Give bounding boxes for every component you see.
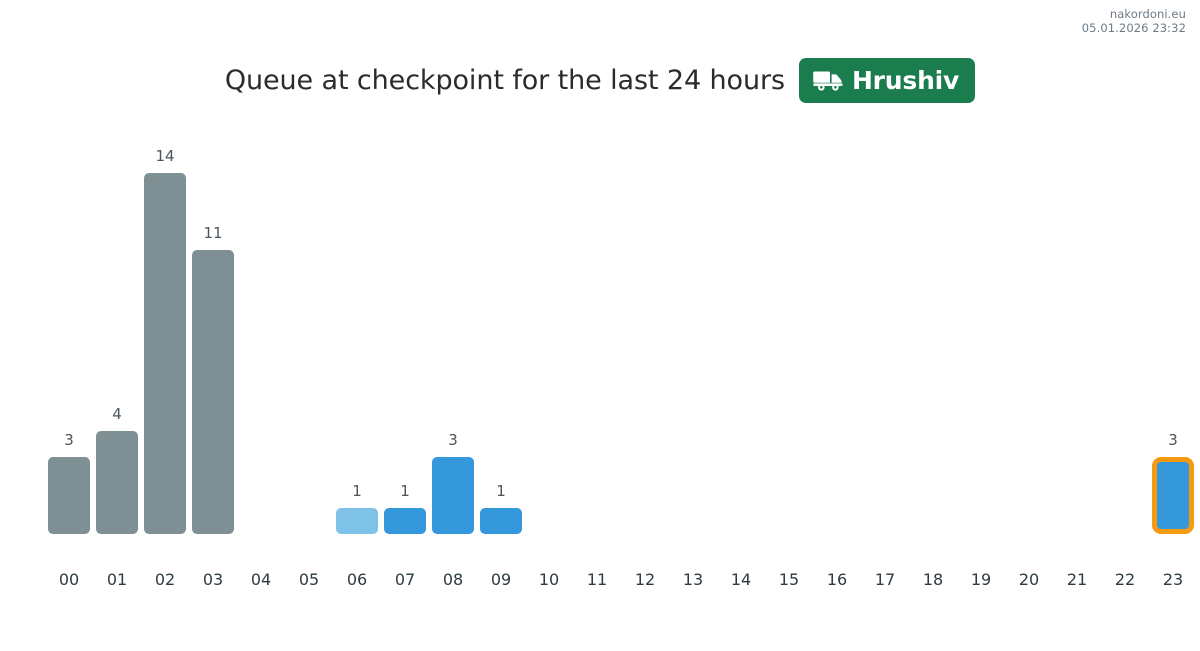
page-title: Queue at checkpoint for the last 24 hour… [225, 65, 785, 96]
bar-23[interactable] [1152, 457, 1194, 534]
x-label-04: 04 [237, 572, 285, 588]
x-label-23: 23 [1149, 572, 1197, 588]
bar-slot-15[interactable] [765, 132, 813, 534]
page-meta: nakordoni.eu 05.01.2026 23:32 [1082, 7, 1186, 36]
bar-value-07: 1 [381, 484, 429, 499]
bar-02[interactable] [144, 173, 186, 534]
bar-01[interactable] [96, 431, 138, 534]
bar-slot-21[interactable] [1053, 132, 1101, 534]
bar-slot-20[interactable] [1005, 132, 1053, 534]
bar-slot-06[interactable]: 1 [333, 132, 381, 534]
bar-value-01: 4 [93, 407, 141, 422]
bar-slot-00[interactable]: 3 [45, 132, 93, 534]
bar-slot-01[interactable]: 4 [93, 132, 141, 534]
x-label-21: 21 [1053, 572, 1101, 588]
bar-slot-12[interactable] [621, 132, 669, 534]
bar-09[interactable] [480, 508, 522, 534]
x-label-01: 01 [93, 572, 141, 588]
x-label-05: 05 [285, 572, 333, 588]
bar-value-02: 14 [141, 149, 189, 164]
x-label-16: 16 [813, 572, 861, 588]
x-label-15: 15 [765, 572, 813, 588]
bar-value-09: 1 [477, 484, 525, 499]
x-label-18: 18 [909, 572, 957, 588]
bar-slot-18[interactable] [909, 132, 957, 534]
bar-slot-10[interactable] [525, 132, 573, 534]
bar-08[interactable] [432, 457, 474, 534]
bar-slot-02[interactable]: 14 [141, 132, 189, 534]
bar-slot-23[interactable]: 3 [1149, 132, 1197, 534]
bar-chart-plot-area: 34141111313 [45, 132, 1200, 534]
bar-slot-22[interactable] [1101, 132, 1149, 534]
x-label-10: 10 [525, 572, 573, 588]
bar-slot-17[interactable] [861, 132, 909, 534]
x-label-06: 06 [333, 572, 381, 588]
bar-slot-04[interactable] [237, 132, 285, 534]
bar-value-03: 11 [189, 226, 237, 241]
bar-value-00: 3 [45, 433, 93, 448]
bar-slot-14[interactable] [717, 132, 765, 534]
x-label-08: 08 [429, 572, 477, 588]
bar-slot-07[interactable]: 1 [381, 132, 429, 534]
x-label-22: 22 [1101, 572, 1149, 588]
bar-value-23: 3 [1149, 433, 1197, 448]
bar-slot-05[interactable] [285, 132, 333, 534]
x-label-19: 19 [957, 572, 1005, 588]
x-label-12: 12 [621, 572, 669, 588]
bar-slot-11[interactable] [573, 132, 621, 534]
checkpoint-badge[interactable]: Hrushiv [799, 58, 975, 103]
bar-slot-03[interactable]: 11 [189, 132, 237, 534]
x-label-07: 07 [381, 572, 429, 588]
bar-03[interactable] [192, 250, 234, 534]
bar-07[interactable] [384, 508, 426, 534]
x-label-09: 09 [477, 572, 525, 588]
site-watermark: nakordoni.eu [1082, 7, 1186, 21]
bar-slot-13[interactable] [669, 132, 717, 534]
bar-slot-19[interactable] [957, 132, 1005, 534]
bar-slot-09[interactable]: 1 [477, 132, 525, 534]
bar-value-08: 3 [429, 433, 477, 448]
bar-slot-08[interactable]: 3 [429, 132, 477, 534]
x-label-02: 02 [141, 572, 189, 588]
title-row: Queue at checkpoint for the last 24 hour… [0, 58, 1200, 103]
x-label-11: 11 [573, 572, 621, 588]
x-label-03: 03 [189, 572, 237, 588]
bar-00[interactable] [48, 457, 90, 534]
x-label-13: 13 [669, 572, 717, 588]
x-label-00: 00 [45, 572, 93, 588]
checkpoint-name: Hrushiv [852, 68, 959, 93]
truck-icon [813, 69, 843, 91]
x-label-17: 17 [861, 572, 909, 588]
x-label-20: 20 [1005, 572, 1053, 588]
bar-value-06: 1 [333, 484, 381, 499]
x-label-14: 14 [717, 572, 765, 588]
timestamp: 05.01.2026 23:32 [1082, 21, 1186, 35]
bar-06[interactable] [336, 508, 378, 534]
x-axis-labels: 0001020304050607080910111213141516171819… [45, 572, 1200, 596]
bar-slot-16[interactable] [813, 132, 861, 534]
